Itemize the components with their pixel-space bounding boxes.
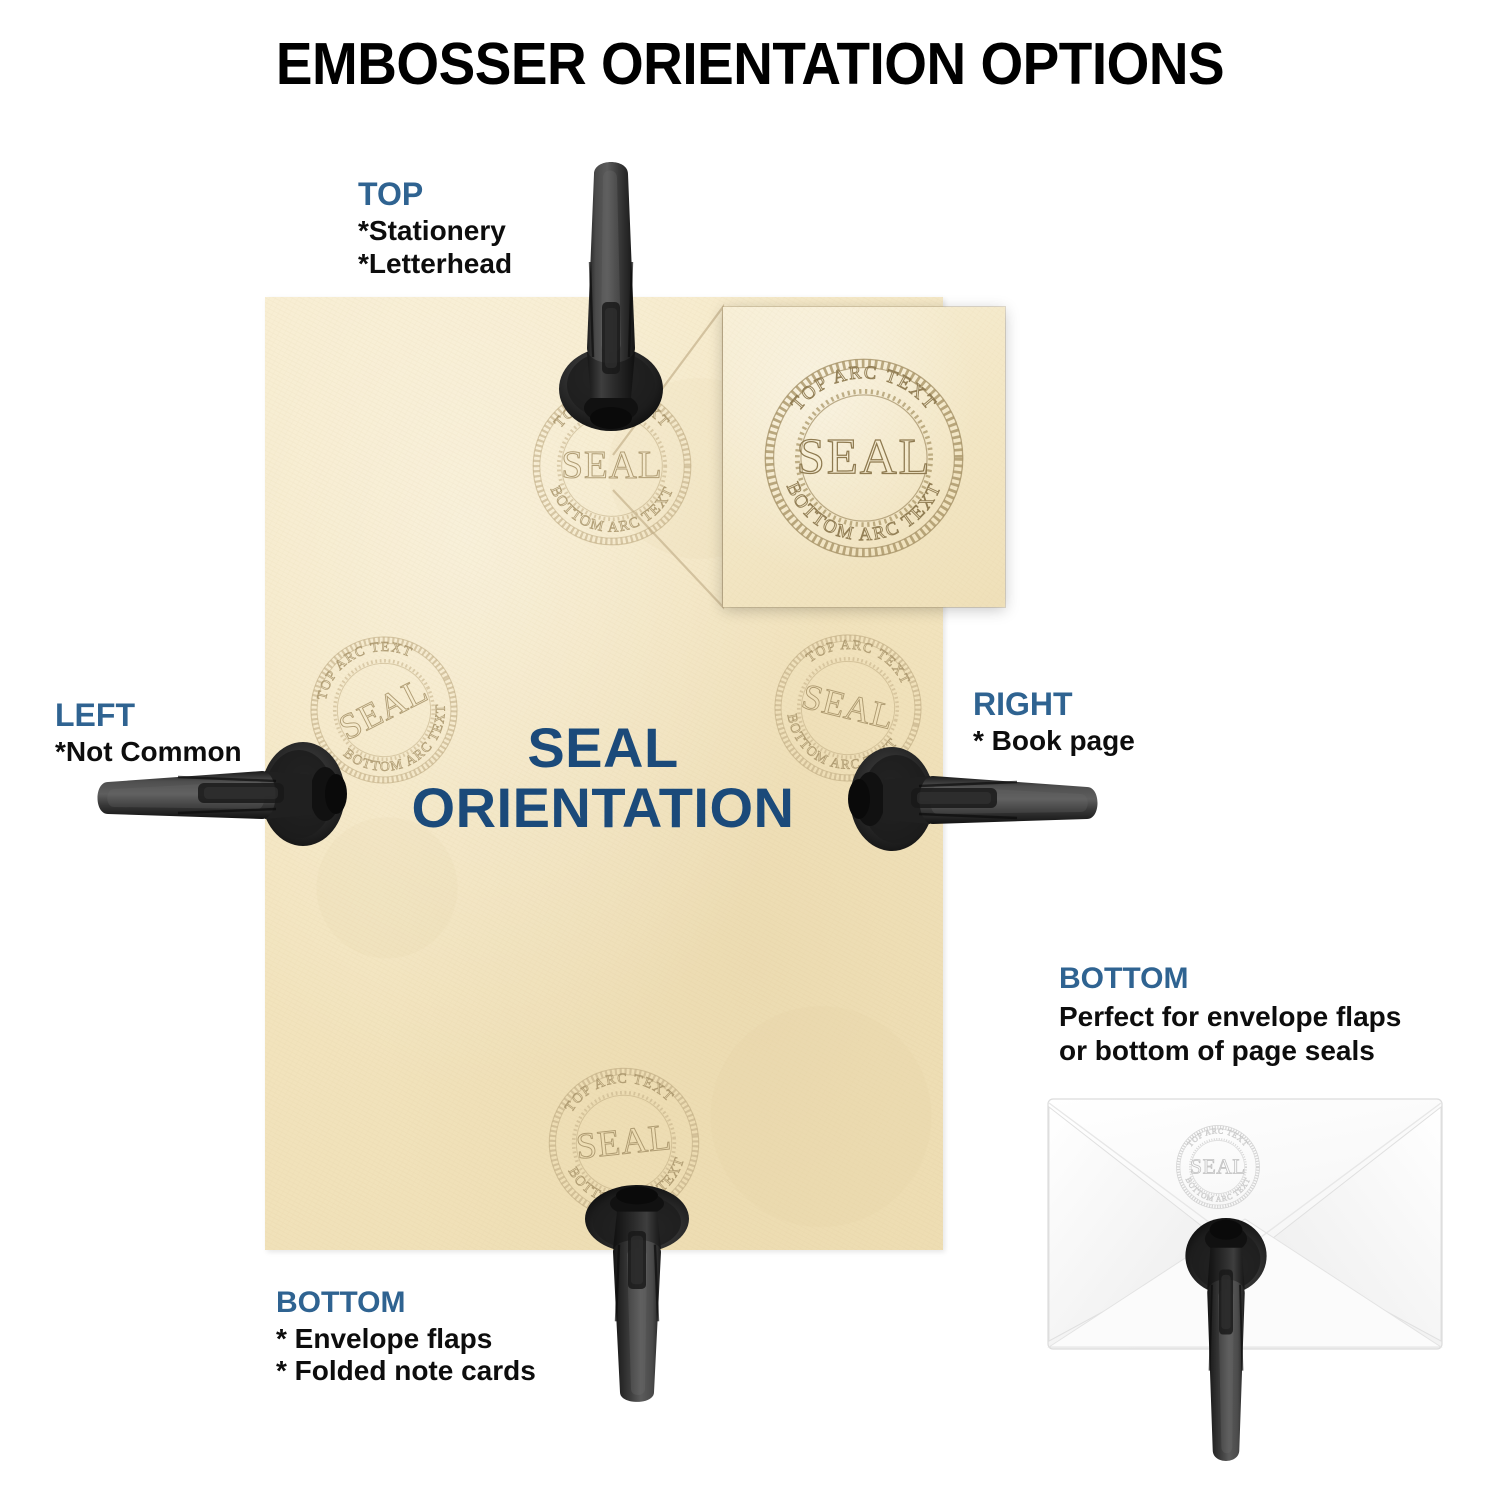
embosser-envelope[interactable] <box>1176 1190 1276 1470</box>
label-right-head: RIGHT <box>973 687 1135 723</box>
label-envelope-line-0: Perfect for envelope flaps <box>1059 1000 1401 1034</box>
inset-texture <box>723 307 1005 607</box>
label-top: TOP *Stationery *Letterhead <box>358 177 512 280</box>
label-left: LEFT *Not Common <box>55 698 242 769</box>
label-envelope-line-1: or bottom of page seals <box>1059 1034 1401 1068</box>
label-bottom-line-0: * Envelope flaps <box>276 1323 536 1356</box>
embosser-right[interactable] <box>840 742 1105 852</box>
label-right: RIGHT * Book page <box>973 687 1135 758</box>
label-bottom: BOTTOM * Envelope flaps * Folded note ca… <box>276 1286 536 1388</box>
label-envelope: BOTTOM Perfect for envelope flaps or bot… <box>1059 962 1401 1068</box>
magnified-seal-detail: TOP ARC TEXT BOTTOM ARC TEXT SEAL <box>723 307 1005 607</box>
label-left-line-0: *Not Common <box>55 736 242 769</box>
page-title: EMBOSSER ORIENTATION OPTIONS <box>53 30 1448 98</box>
label-top-head: TOP <box>358 177 512 213</box>
label-bottom-line-1: * Folded note cards <box>276 1355 536 1388</box>
label-left-head: LEFT <box>55 698 242 734</box>
label-right-line-0: * Book page <box>973 725 1135 758</box>
diagram-canvas: EMBOSSER ORIENTATION OPTIONS TOP ARC T <box>0 0 1500 1500</box>
label-bottom-head: BOTTOM <box>276 1286 536 1320</box>
label-top-line-0: *Stationery <box>358 215 512 248</box>
label-top-line-1: *Letterhead <box>358 248 512 281</box>
embosser-bottom[interactable] <box>573 1160 701 1410</box>
embosser-top[interactable] <box>547 152 675 462</box>
label-envelope-head: BOTTOM <box>1059 962 1401 996</box>
